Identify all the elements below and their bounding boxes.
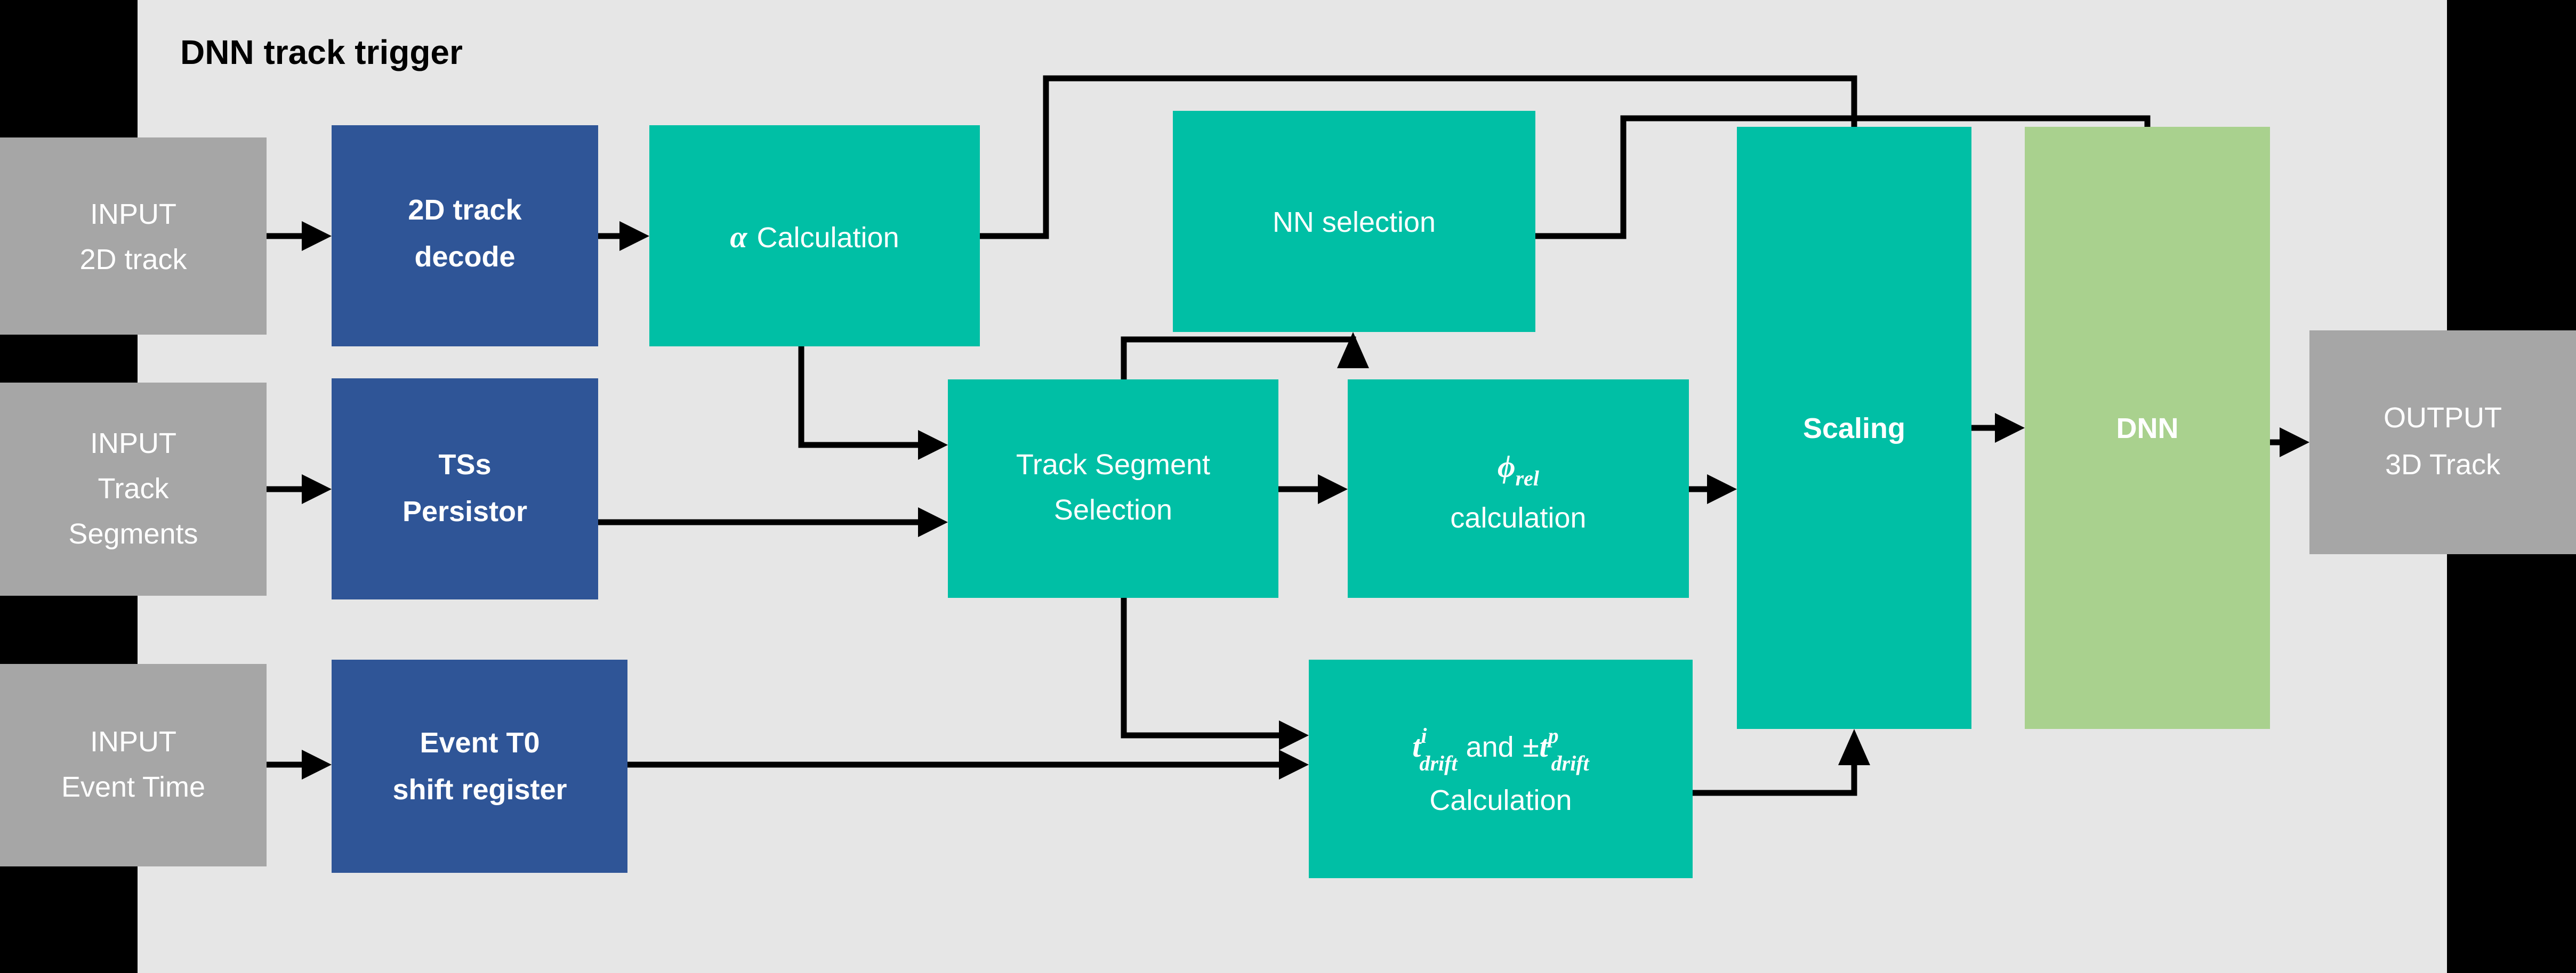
node-label-line1: TSs (438, 449, 491, 481)
node-label: Scaling (1803, 412, 1905, 444)
node-box (0, 137, 267, 335)
node-input-2d-track[interactable]: INPUT 2D track (0, 137, 267, 335)
node-label-line2: 3D Track (2385, 449, 2501, 481)
node-label-line2: shift register (392, 774, 567, 806)
node-box (0, 664, 267, 866)
node-label-line2: decode (414, 241, 515, 273)
node-label-line1: INPUT (90, 198, 176, 230)
node-alpha-calculation[interactable]: αCalculation (649, 125, 980, 346)
node-label: NN selection (1273, 206, 1436, 238)
node-2d-track-decode[interactable]: 2D track decode (332, 125, 598, 346)
node-input-event-time[interactable]: INPUT Event Time (0, 664, 267, 866)
node-label-line1: Track Segment (1016, 449, 1210, 481)
node-tss-persistor[interactable]: TSs Persistor (332, 378, 598, 599)
node-box (1309, 660, 1693, 878)
node-dnn[interactable]: DNN (2025, 127, 2270, 729)
node-track-segment-selection[interactable]: Track Segment Selection (948, 379, 1278, 598)
page-title: DNN track trigger (180, 33, 463, 71)
node-label-line2: Persistor (402, 496, 527, 528)
phi-symbol: ϕ (1498, 449, 1516, 484)
alpha-word: Calculation (756, 222, 899, 254)
node-output-3d-track[interactable]: OUTPUT 3D Track (2309, 330, 2576, 554)
node-box (2309, 330, 2576, 554)
phi-subscript: rel (1516, 466, 1540, 490)
node-label-line2: Selection (1054, 494, 1172, 526)
diagram-canvas: DNN track trigger INPUT 2D track 2D trac… (0, 0, 2576, 973)
node-box (332, 125, 598, 346)
node-label-line2: 2D track (79, 244, 187, 275)
node-box (948, 379, 1278, 598)
node-label-word: calculation (1450, 502, 1586, 534)
t-subscript-drift: drift (1419, 751, 1458, 775)
node-label-line2: Event Time (61, 771, 205, 803)
node-label-line1: INPUT (90, 726, 176, 758)
pm-t-symbol: ±t (1523, 729, 1549, 764)
node-box (332, 660, 627, 873)
node-box (332, 378, 598, 599)
node-input-track-segments[interactable]: INPUT Track Segments (0, 383, 267, 596)
and-word: and (1466, 731, 1514, 763)
node-label: DNN (2116, 412, 2179, 444)
node-label-line1: Event T0 (420, 727, 540, 759)
alpha-symbol: α (730, 220, 747, 254)
t-superscript-i: i (1421, 724, 1427, 748)
flow-diagram: DNN track trigger INPUT 2D track 2D trac… (0, 0, 2576, 973)
node-phi-rel-calculation[interactable]: ϕrel calculation (1348, 379, 1689, 598)
node-label-word: Calculation (1429, 784, 1572, 816)
node-scaling[interactable]: Scaling (1737, 127, 1971, 729)
node-label-line2: Track (98, 473, 170, 505)
node-event-t0-shift-register[interactable]: Event T0 shift register (332, 660, 627, 873)
node-label-line3: Segments (68, 518, 198, 550)
t-subscript-drift-2: drift (1551, 751, 1590, 775)
diagram-stage: DNN track trigger INPUT 2D track 2D trac… (0, 0, 2576, 973)
node-label-line1: INPUT (90, 427, 176, 459)
node-label-line1: OUTPUT (2384, 402, 2502, 434)
node-tdrift-calculation[interactable]: tidriftand±tpdrift Calculation (1309, 660, 1693, 878)
node-nn-selection[interactable]: NN selection (1173, 111, 1535, 332)
node-label-line1: 2D track (408, 194, 522, 226)
t-superscript-p: p (1547, 724, 1559, 748)
